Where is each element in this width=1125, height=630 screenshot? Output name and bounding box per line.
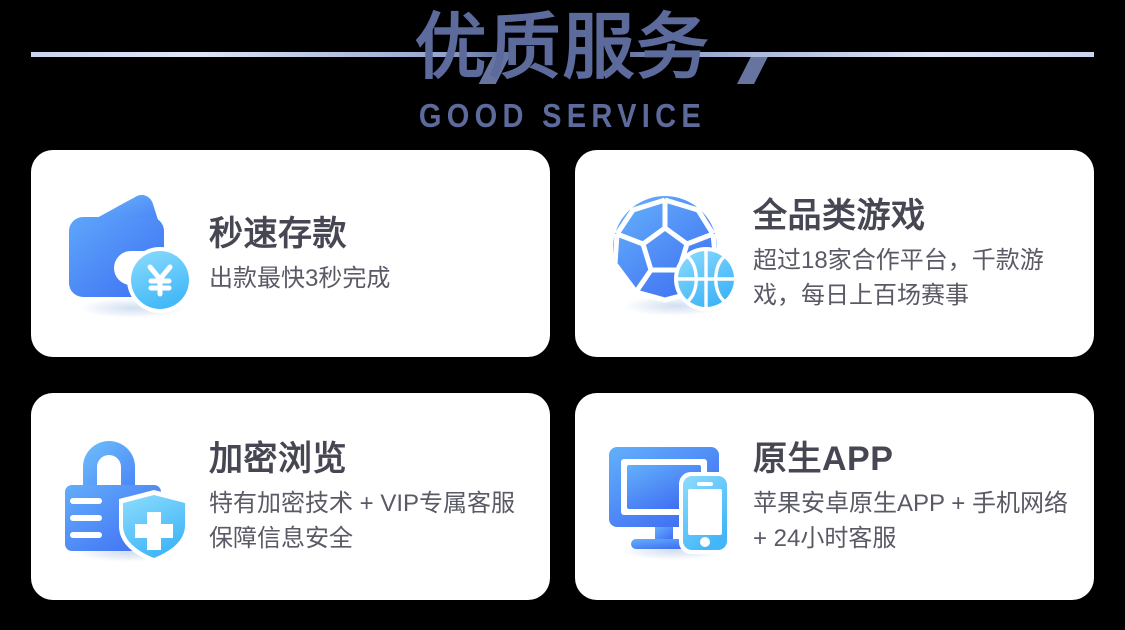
card-subtitle: 苹果安卓原生APP + 手机网络 + 24小时客服 (753, 486, 1082, 556)
lock-shield-icon (59, 427, 199, 567)
page-root: 优质服务 GOOD SERVICE (0, 0, 1125, 630)
feature-card-grid: 秒速存款 出款最快3秒完成 (31, 150, 1094, 600)
card-title: 全品类游戏 (753, 194, 1082, 238)
feature-card-games-text: 全品类游戏 超过18家合作平台，千款游戏，每日上百场赛事 (753, 194, 1094, 313)
feature-card-encryption[interactable]: 加密浏览 特有加密技术 + VIP专属客服保障信息安全 (31, 393, 550, 600)
card-subtitle: 出款最快3秒完成 (209, 261, 390, 296)
monitor-phone-icon (603, 427, 743, 567)
card-title: 加密浏览 (209, 437, 538, 481)
feature-card-games[interactable]: 全品类游戏 超过18家合作平台，千款游戏，每日上百场赛事 (575, 150, 1094, 357)
feature-card-encryption-text: 加密浏览 特有加密技术 + VIP专属客服保障信息安全 (209, 437, 550, 556)
feature-card-deposit[interactable]: 秒速存款 出款最快3秒完成 (31, 150, 550, 357)
feature-card-deposit-text: 秒速存款 出款最快3秒完成 (209, 212, 402, 296)
card-subtitle: 超过18家合作平台，千款游戏，每日上百场赛事 (753, 243, 1082, 313)
card-title: 原生APP (753, 437, 1082, 481)
header-banner: 优质服务 GOOD SERVICE (0, 0, 1125, 146)
page-title: 优质服务 (0, 2, 1125, 94)
wallet-coin-icon (59, 184, 199, 324)
feature-card-native-app-text: 原生APP 苹果安卓原生APP + 手机网络 + 24小时客服 (753, 437, 1094, 556)
card-title: 秒速存款 (209, 212, 390, 256)
feature-card-native-app[interactable]: 原生APP 苹果安卓原生APP + 手机网络 + 24小时客服 (575, 393, 1094, 600)
page-subtitle: GOOD SERVICE (68, 96, 1058, 136)
soccer-basketball-icon (603, 184, 743, 324)
card-subtitle: 特有加密技术 + VIP专属客服保障信息安全 (209, 486, 538, 556)
